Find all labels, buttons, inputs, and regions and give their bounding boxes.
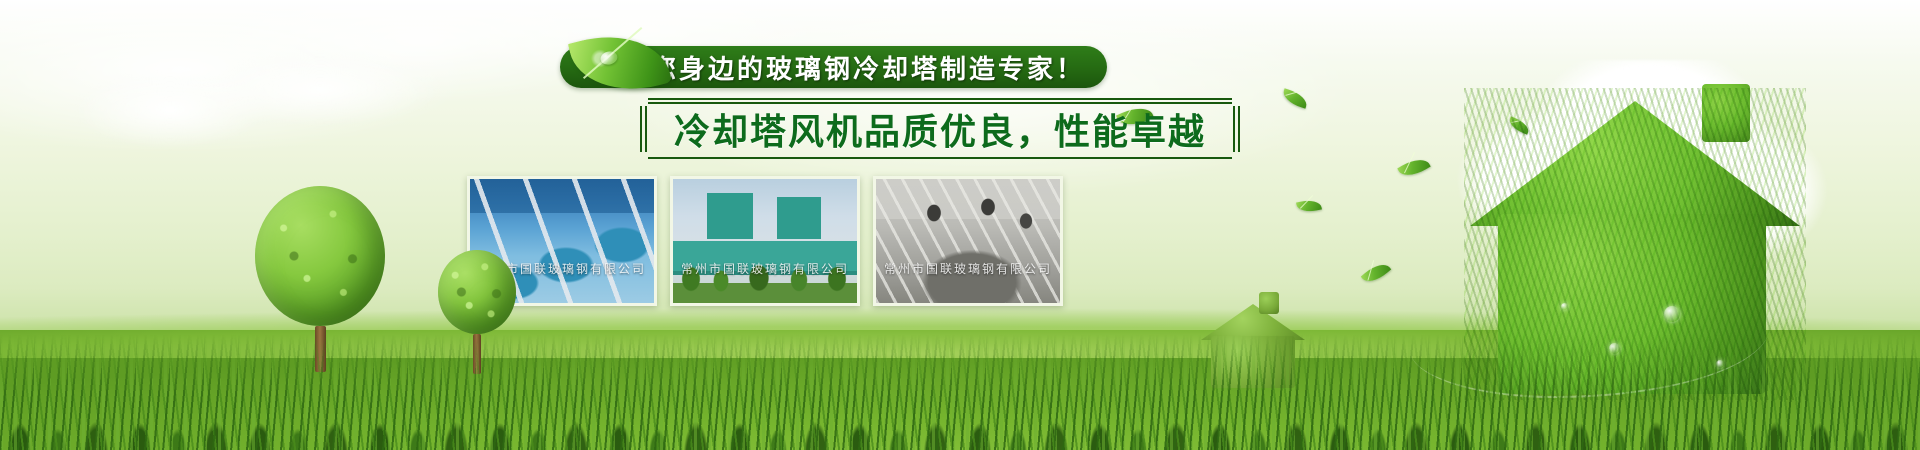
product-photo-2[interactable]: 常州市国联玻璃钢有限公司	[670, 176, 860, 306]
photo-2-watermark: 常州市国联玻璃钢有限公司	[673, 260, 857, 277]
headline-frame: 冷却塔风机品质优良，性能卓越	[640, 98, 1240, 160]
tagline-pill: 您身边的玻璃钢冷却塔制造专家！	[560, 46, 1107, 88]
tagline-text: 您身边的玻璃钢冷却塔制造专家！	[650, 49, 1085, 86]
tree-large-crown	[255, 186, 385, 326]
tree-small-crown	[438, 250, 516, 334]
page-title: 冷却塔风机品质优良，性能卓越	[640, 104, 1240, 154]
photo-3-watermark: 常州市国联玻璃钢有限公司	[876, 260, 1060, 277]
grass-house-small-chimney	[1259, 292, 1279, 314]
grass-house-large-chimney	[1702, 84, 1750, 142]
sparkle-bubble-1	[1664, 306, 1680, 322]
photo-3-fan-motors	[876, 179, 1060, 303]
cloud-icon-left	[60, 30, 480, 200]
grass-house-large-roof	[1470, 101, 1800, 226]
grass-blades	[0, 335, 1920, 450]
promo-banner: 您身边的玻璃钢冷却塔制造专家！ 冷却塔风机品质优良，性能卓越 常州市国联玻璃钢有…	[0, 0, 1920, 450]
sparkle-bubble-4	[1561, 303, 1568, 310]
frame-rule-bottom	[648, 157, 1232, 160]
product-photo-3[interactable]: 常州市国联玻璃钢有限公司	[873, 176, 1063, 306]
